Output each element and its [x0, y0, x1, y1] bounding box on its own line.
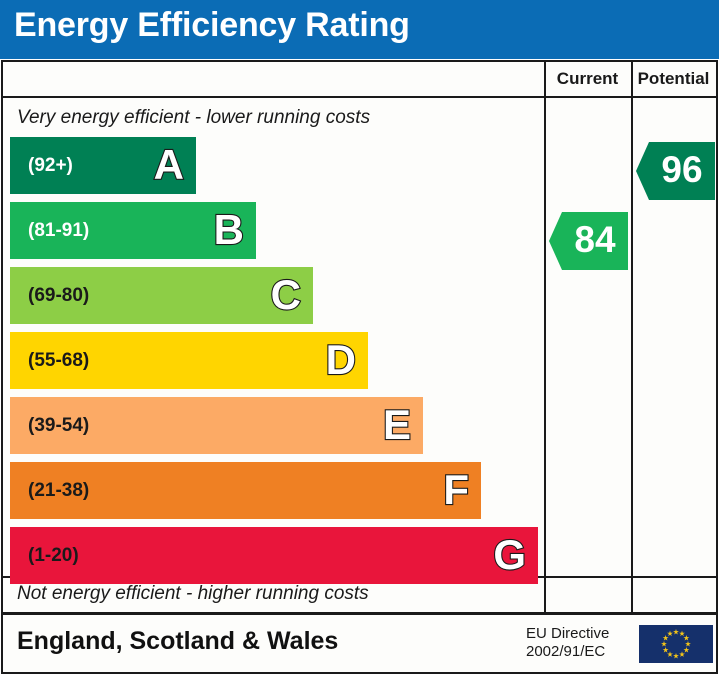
band-g: (1-20) G — [10, 527, 538, 584]
band-c: (69-80) C — [10, 267, 313, 324]
page-title: Energy Efficiency Rating — [14, 6, 410, 45]
footer-region-label: England, Scotland & Wales — [17, 627, 338, 656]
eu-flag-icon — [639, 625, 713, 663]
energy-efficiency-rating-chart: Energy Efficiency Rating Current Potenti… — [0, 0, 719, 675]
band-b: (81-91) B — [10, 202, 256, 259]
band-b-range: (81-91) — [28, 202, 89, 259]
band-c-letter: C — [271, 267, 301, 324]
band-e-letter: E — [383, 397, 411, 454]
potential-rating-value: 96 — [649, 142, 715, 200]
chart-footer: England, Scotland & Wales EU Directive 2… — [1, 613, 718, 674]
band-f: (21-38) F — [10, 462, 481, 519]
band-d-range: (55-68) — [28, 332, 89, 389]
column-divider-current — [544, 62, 546, 612]
column-header-potential: Potential — [631, 62, 716, 96]
band-g-letter: G — [493, 527, 526, 584]
band-d: (55-68) D — [10, 332, 368, 389]
band-a-range: (92+) — [28, 137, 73, 194]
band-c-range: (69-80) — [28, 267, 89, 324]
band-b-letter: B — [214, 202, 244, 259]
current-rating-value: 84 — [562, 212, 628, 270]
caption-very-efficient: Very energy efficient - lower running co… — [17, 102, 537, 134]
band-a-letter: A — [154, 137, 184, 194]
band-g-range: (1-20) — [28, 527, 79, 584]
band-list: (92+) A (81-91) B (69-80) C (55-68) D (3… — [3, 137, 544, 574]
band-f-range: (21-38) — [28, 462, 89, 519]
footer-directive-line2: 2002/91/EC — [526, 643, 630, 661]
band-a: (92+) A — [10, 137, 196, 194]
footer-directive-line1: EU Directive — [526, 625, 630, 643]
band-e-range: (39-54) — [28, 397, 89, 454]
band-f-letter: F — [443, 462, 469, 519]
chart-title-bar: Energy Efficiency Rating — [0, 0, 719, 59]
current-rating-arrow: 84 — [549, 212, 628, 270]
column-header-current: Current — [544, 62, 631, 96]
potential-rating-arrow: 96 — [636, 142, 715, 200]
rating-table: Current Potential Very energy efficient … — [1, 60, 718, 614]
column-divider-potential — [631, 62, 633, 612]
table-header-row: Current Potential — [3, 62, 716, 98]
band-d-letter: D — [326, 332, 356, 389]
band-e: (39-54) E — [10, 397, 423, 454]
footer-directive: EU Directive 2002/91/EC — [526, 625, 630, 661]
